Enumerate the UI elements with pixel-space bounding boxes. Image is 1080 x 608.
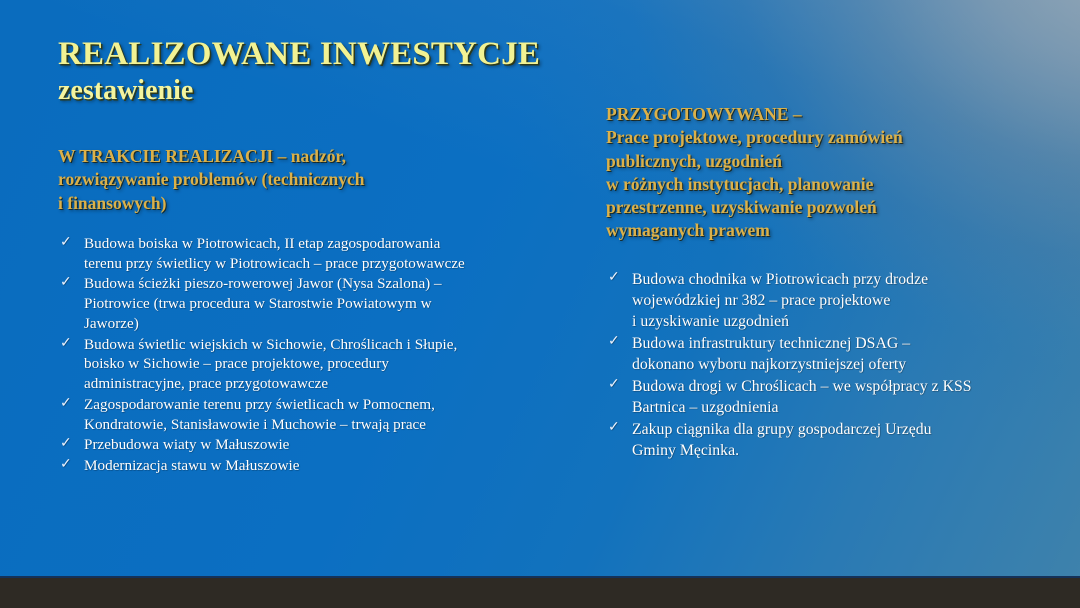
list-item: ✓ Zagospodarowanie terenu przy świetlica…: [58, 395, 563, 435]
right-heading-line-3: publicznych, uzgodnień: [606, 150, 1056, 173]
slide-subtitle: zestawienie: [58, 74, 698, 108]
list-item: ✓ Budowa infrastruktury technicznej DSAG…: [606, 333, 1056, 375]
list-item-line: Budowa chodnika w Piotrowicach przy drod…: [632, 269, 1056, 290]
left-heading-line-2: rozwiązywanie problemów (technicznych: [58, 168, 563, 191]
check-mark-icon: ✓: [60, 435, 72, 453]
list-item-line: Kondratowie, Stanisławowie i Muchowie – …: [84, 415, 563, 435]
list-item-line: Budowa świetlic wiejskich w Sichowie, Ch…: [84, 335, 563, 355]
list-item-line: Budowa ścieżki pieszo-rowerowej Jawor (N…: [84, 274, 563, 294]
list-item: ✓ Budowa boiska w Piotrowicach, II etap …: [58, 234, 563, 274]
right-heading-line-6: wymaganych prawem: [606, 219, 1056, 242]
presentation-slide: REALIZOWANE INWESTYCJE zestawienie W TRA…: [0, 0, 1080, 608]
check-mark-icon: ✓: [608, 376, 620, 395]
right-bullet-list: ✓ Budowa chodnika w Piotrowicach przy dr…: [606, 269, 1056, 461]
check-mark-icon: ✓: [60, 395, 72, 413]
left-heading-line-1: W TRAKCIE REALIZACJI – nadzór,: [58, 145, 563, 168]
check-mark-icon: ✓: [60, 274, 72, 292]
right-heading-line-5: przestrzenne, uzyskiwanie pozwoleń: [606, 196, 1056, 219]
list-item-line: Budowa infrastruktury technicznej DSAG –: [632, 333, 1056, 354]
slide-title: REALIZOWANE INWESTYCJE: [58, 36, 698, 73]
left-heading-line-3: i finansowych): [58, 192, 563, 215]
list-item-line: Budowa boiska w Piotrowicach, II etap za…: [84, 234, 563, 254]
list-item-line: Bartnica – uzgodnienia: [632, 397, 1056, 418]
right-section-heading: PRZYGOTOWYWANE – Prace projektowe, proce…: [606, 103, 1056, 243]
list-item-line: Zakup ciągnika dla grupy gospodarczej Ur…: [632, 419, 1056, 440]
right-heading-line-2: Prace projektowe, procedury zamówień: [606, 126, 1056, 149]
list-item-line: boisko w Sichowie – prace projektowe, pr…: [84, 354, 563, 374]
list-item: ✓ Budowa chodnika w Piotrowicach przy dr…: [606, 269, 1056, 332]
list-item-line: i uzyskiwanie uzgodnień: [632, 311, 1056, 332]
slide-content: REALIZOWANE INWESTYCJE zestawienie W TRA…: [0, 0, 1080, 608]
slide-title-block: REALIZOWANE INWESTYCJE zestawienie: [58, 36, 698, 108]
list-item-line: wojewódzkiej nr 382 – prace projektowe: [632, 290, 1056, 311]
list-item: ✓ Przebudowa wiaty w Małuszowie: [58, 435, 563, 455]
right-heading-line-1: PRZYGOTOWYWANE –: [606, 103, 1056, 126]
right-column: PRZYGOTOWYWANE – Prace projektowe, proce…: [606, 103, 1056, 462]
left-column: W TRAKCIE REALIZACJI – nadzór, rozwiązyw…: [58, 145, 563, 477]
check-mark-icon: ✓: [608, 269, 620, 288]
check-mark-icon: ✓: [608, 333, 620, 352]
list-item: ✓ Modernizacja stawu w Małuszowie: [58, 456, 563, 476]
check-mark-icon: ✓: [60, 335, 72, 353]
list-item: ✓ Budowa świetlic wiejskich w Sichowie, …: [58, 335, 563, 394]
list-item-line: Modernizacja stawu w Małuszowie: [84, 456, 563, 476]
list-item-line: terenu przy świetlicy w Piotrowicach – p…: [84, 254, 563, 274]
check-mark-icon: ✓: [608, 419, 620, 438]
list-item-line: Piotrowice (trwa procedura w Starostwie …: [84, 294, 563, 314]
list-item: ✓ Zakup ciągnika dla grupy gospodarczej …: [606, 419, 1056, 461]
left-section-heading: W TRAKCIE REALIZACJI – nadzór, rozwiązyw…: [58, 145, 563, 215]
list-item-line: dokonano wyboru najkorzystniejszej ofert…: [632, 354, 1056, 375]
list-item-line: Przebudowa wiaty w Małuszowie: [84, 435, 563, 455]
list-item: ✓ Budowa ścieżki pieszo-rowerowej Jawor …: [58, 274, 563, 333]
right-heading-line-4: w różnych instytucjach, planowanie: [606, 173, 1056, 196]
left-bullet-list: ✓ Budowa boiska w Piotrowicach, II etap …: [58, 234, 563, 476]
check-mark-icon: ✓: [60, 234, 72, 252]
list-item-line: administracyjne, prace przygotowawcze: [84, 374, 563, 394]
list-item-line: Budowa drogi w Chroślicach – we współpra…: [632, 376, 1056, 397]
list-item-line: Jaworze): [84, 314, 563, 334]
check-mark-icon: ✓: [60, 456, 72, 474]
list-item-line: Zagospodarowanie terenu przy świetlicach…: [84, 395, 563, 415]
list-item: ✓ Budowa drogi w Chroślicach – we współp…: [606, 376, 1056, 418]
list-item-line: Gminy Męcinka.: [632, 440, 1056, 461]
